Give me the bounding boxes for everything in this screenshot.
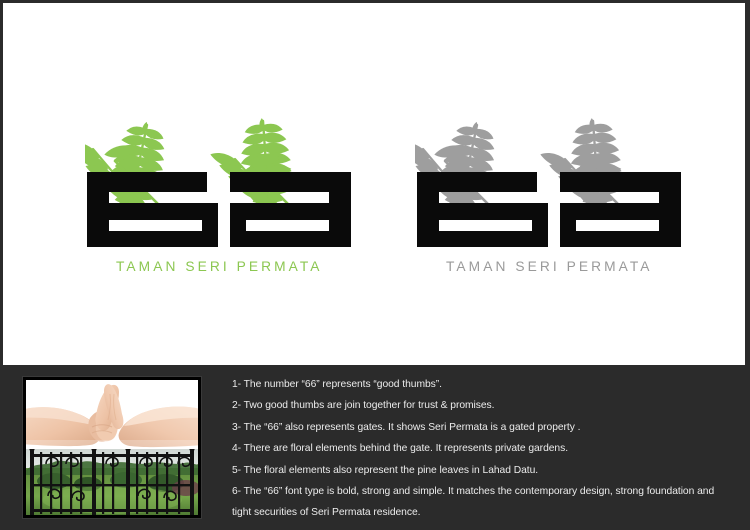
concept-photo-frame: [22, 376, 202, 519]
concept-photo: [26, 380, 198, 515]
rationale-notes-list: 1- The number “66” represents “good thum…: [232, 374, 740, 524]
note-item: 1- The number “66” represents “good thum…: [232, 374, 740, 395]
note-item: 4- There are floral elements behind the …: [232, 438, 740, 459]
logo-grayscale-artwork: [415, 115, 683, 257]
logo-full-color: TAMAN SERI PERMATA: [85, 115, 353, 280]
note-item: 3- The “66” also represents gates. It sh…: [232, 417, 740, 438]
presentation-board: TAMAN SERI PERMATA: [0, 0, 750, 530]
logo-grayscale-tagline: TAMAN SERI PERMATA: [415, 258, 683, 276]
note-item: 6- The “66” font type is bold, strong an…: [232, 481, 736, 524]
logo-grayscale: TAMAN SERI PERMATA: [415, 115, 683, 280]
logo-color-artwork: [85, 115, 353, 257]
logo-color-tagline: TAMAN SERI PERMATA: [85, 258, 353, 276]
note-item: 5- The floral elements also represent th…: [232, 460, 740, 481]
rationale-panel: 1- The number “66” represents “good thum…: [0, 368, 750, 530]
note-item: 2- Two good thumbs are join together for…: [232, 395, 740, 416]
logo-showcase-panel: TAMAN SERI PERMATA: [2, 2, 746, 366]
